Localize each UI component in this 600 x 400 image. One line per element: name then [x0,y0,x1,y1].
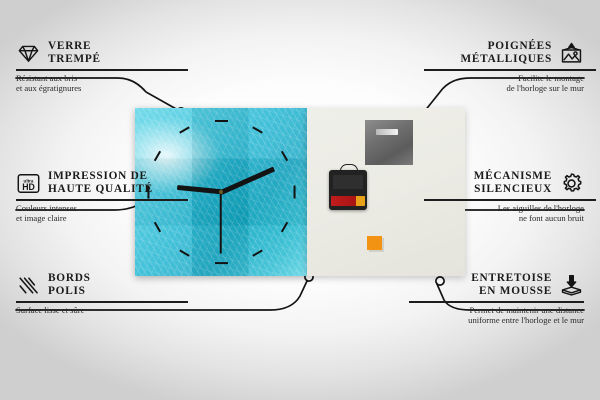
feature-title-line2: MÉTALLIQUES [460,53,552,66]
mechanism-highlight [333,175,363,189]
feature-title-line1: ENTRETOISE [471,272,552,285]
feature-subtitle-line1: Facilite le montage [424,73,584,83]
feature-title-line1: IMPRESSION DE [48,170,153,183]
feature-title-line2: SILENCIEUX [474,183,552,196]
feature-title-line1: VERRE [48,40,101,53]
feature-subtitle-line1: Permet de maintenir une distance [409,305,584,315]
feature-rule [16,301,188,302]
feature-subtitle-line2: et aux égratignures [16,83,156,93]
feature-verre-trempe: VERRE TREMPÉ Résistant aux bris et aux é… [16,40,156,94]
mechanism-bail [340,164,358,173]
feature-subtitle-line1: Couleurs intenses [16,203,168,213]
feature-title-line1: POIGNÉES [460,40,552,53]
feature-bords-polis: BORDS POLIS Surface lisse et sûre [16,272,156,315]
feature-rule [16,69,188,70]
feature-title-line2: TREMPÉ [48,53,101,66]
foam-spacer-arrow-icon [559,273,584,298]
feature-rule [16,199,188,200]
hanger-slot [376,129,398,135]
clock-mechanism [329,170,367,210]
feature-impression-haute-qualite: ultra HD IMPRESSION DE HAUTE QUALITÉ Cou… [16,170,168,224]
product-photo [135,108,465,276]
metal-hanger-plate [365,120,413,165]
feature-mecanisme-silencieux: MÉCANISME SILENCIEUX Les aiguilles de l'… [424,170,584,224]
feature-title-line2: POLIS [48,285,91,298]
diamond-icon [16,41,41,66]
feature-title-line2: EN MOUSSE [471,285,552,298]
feature-rule [424,199,596,200]
infographic-canvas: VERRE TREMPÉ Résistant aux bris et aux é… [0,0,600,400]
feature-subtitle-line1: Résistant aux bris [16,73,156,83]
feature-subtitle-line2: et image claire [16,213,168,223]
second-hand [220,192,222,254]
feature-entretoise-en-mousse: ENTRETOISE EN MOUSSE Permet de maintenir… [409,272,584,326]
feature-rule [409,301,584,302]
clock-tick [215,262,228,264]
picture-frame-hanger-icon [559,41,584,66]
feature-subtitle-line2: uniforme entre l'horloge et le mur [409,315,584,325]
feature-subtitle-line2: de l'horloge sur le mur [424,83,584,93]
foam-spacer [367,236,382,250]
feature-title-line1: BORDS [48,272,91,285]
clock-center-pin [219,190,223,194]
battery [331,196,365,206]
gear-icon [559,171,584,196]
clock-tick [215,120,228,122]
feature-poignees-metalliques: POIGNÉES MÉTALLIQUES Facilite le montage… [424,40,584,94]
feature-subtitle-line2: ne font aucun bruit [424,213,584,223]
ultra-hd-icon: ultra HD [16,171,41,196]
feature-subtitle-line1: Les aiguilles de l'horloge [424,203,584,213]
clock-tick [293,185,295,198]
polished-edges-icon [16,273,41,298]
feature-title-line2: HAUTE QUALITÉ [48,183,153,196]
feature-subtitle-line1: Surface lisse et sûre [16,305,156,315]
feature-rule [424,69,596,70]
ultra-hd-large-text: HD [22,182,35,192]
feature-title-line1: MÉCANISME [474,170,552,183]
